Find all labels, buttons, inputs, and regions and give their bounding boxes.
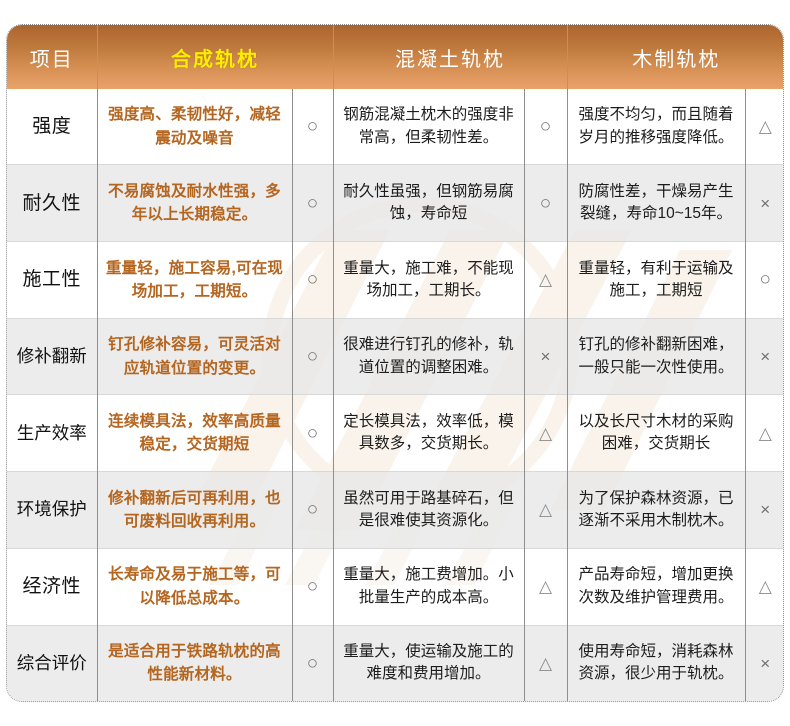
circle-icon: ○ (540, 117, 551, 136)
header-concrete-label: 混凝土轨枕 (395, 43, 505, 72)
cell-concrete: 很难进行钉孔的修补，轨道位置的调整困难。 (333, 318, 524, 395)
table-row: 修补翻新 钉孔修补容易，可灵活对应轨道位置的变更。 ○ 很难进行钉孔的修补，轨道… (7, 318, 784, 395)
table-row: 综合评价 是适合用于铁路轨枕的高性能新材料。 ○ 重量大，使运输及施工的难度和费… (7, 625, 784, 701)
circle-icon: ○ (760, 270, 771, 289)
table-header-row: 项目 合成轨枕 混凝土轨枕 木制轨枕 (7, 25, 784, 89)
cell-concrete: 虽然可用于路基碎石，但是很难使其资源化。 (333, 472, 524, 549)
cell-synthetic: 连续模具法，效率高质量稳定，交货期短 (97, 395, 292, 472)
mark-synthetic: ○ (292, 548, 333, 625)
table-row: 环境保护 修补翻新后可再利用，也可废料回收再利用。 ○ 虽然可用于路基碎石，但是… (7, 472, 784, 549)
circle-icon: ○ (307, 194, 318, 213)
cell-wood: 为了保护森林资源，已逐渐不采用木制枕木。 (567, 472, 745, 549)
cell-concrete: 钢筋混凝土枕木的强度非常高，但柔韧性差。 (333, 89, 524, 165)
cell-synthetic: 是适合用于铁路轨枕的高性能新材料。 (97, 625, 292, 701)
cross-icon: × (760, 195, 770, 212)
row-item-label: 施工性 (7, 242, 97, 319)
row-item-label: 环境保护 (7, 472, 97, 549)
mark-wood: × (745, 318, 784, 395)
comparison-table: 项目 合成轨枕 混凝土轨枕 木制轨枕 强度 强度高、柔韧性好，减轻震动及噪音 ○… (6, 24, 784, 702)
mark-synthetic: ○ (292, 318, 333, 395)
cross-icon: × (760, 348, 770, 365)
triangle-icon: △ (759, 578, 772, 595)
cell-wood: 防腐性差，干燥易产生裂缝，寿命10~15年。 (567, 165, 745, 242)
mark-concrete: ○ (524, 165, 567, 242)
cell-concrete: 定长模具法，效率低，模具数多，交货期长。 (333, 395, 524, 472)
mark-concrete: △ (524, 242, 567, 319)
cell-wood: 钉孔的修补翻新困难，一般只能一次性使用。 (567, 318, 745, 395)
mark-concrete: △ (524, 395, 567, 472)
cross-icon: × (541, 348, 551, 365)
mark-concrete: × (524, 318, 567, 395)
comparison-table-page: 项目 合成轨枕 混凝土轨枕 木制轨枕 强度 强度高、柔韧性好，减轻震动及噪音 ○… (0, 0, 790, 726)
cell-concrete: 重量大，施工难，不能现场加工，工期长。 (333, 242, 524, 319)
cell-concrete: 重量大，施工费增加。小批量生产的成本高。 (333, 548, 524, 625)
mark-wood: △ (745, 548, 784, 625)
table-row: 耐久性 不易腐蚀及耐水性强，多年以上长期稳定。 ○ 耐久性虽强，但钢筋易腐蚀，寿… (7, 165, 784, 242)
cell-synthetic: 修补翻新后可再利用，也可废料回收再利用。 (97, 472, 292, 549)
triangle-icon: △ (539, 425, 552, 442)
mark-synthetic: ○ (292, 165, 333, 242)
table-body: 强度 强度高、柔韧性好，减轻震动及噪音 ○ 钢筋混凝土枕木的强度非常高，但柔韧性… (7, 89, 784, 701)
circle-icon: ○ (307, 270, 318, 289)
triangle-icon: △ (539, 578, 552, 595)
row-item-label: 生产效率 (7, 395, 97, 472)
cell-wood: 产品寿命短，增加更换次数及维护管理费用。 (567, 548, 745, 625)
triangle-icon: △ (539, 655, 552, 672)
mark-synthetic: ○ (292, 395, 333, 472)
header-wood-label: 木制轨枕 (632, 43, 720, 72)
cell-synthetic: 长寿命及易于施工等，可以降低总成本。 (97, 548, 292, 625)
row-item-label: 耐久性 (7, 165, 97, 242)
circle-icon: ○ (307, 347, 318, 366)
mark-wood: △ (745, 395, 784, 472)
mark-wood: × (745, 625, 784, 701)
circle-icon: ○ (307, 654, 318, 673)
triangle-icon: △ (539, 271, 552, 288)
cell-wood: 重量轻，有利于运输及施工，工期短 (567, 242, 745, 319)
row-item-label: 综合评价 (7, 625, 97, 701)
cell-synthetic: 重量轻，施工容易,可在现场加工，工期短。 (97, 242, 292, 319)
circle-icon: ○ (307, 117, 318, 136)
row-item-label: 修补翻新 (7, 318, 97, 395)
cell-synthetic: 钉孔修补容易，可灵活对应轨道位置的变更。 (97, 318, 292, 395)
mark-synthetic: ○ (292, 242, 333, 319)
circle-icon: ○ (307, 577, 318, 596)
header-synthetic-label: 合成轨枕 (171, 43, 259, 72)
mark-wood: △ (745, 89, 784, 165)
mark-wood: ○ (745, 242, 784, 319)
header-concrete: 混凝土轨枕 (333, 25, 567, 89)
header-synthetic: 合成轨枕 (97, 25, 333, 89)
mark-wood: × (745, 472, 784, 549)
cross-icon: × (760, 655, 770, 672)
mark-synthetic: ○ (292, 89, 333, 165)
mark-concrete: ○ (524, 89, 567, 165)
circle-icon: ○ (307, 424, 318, 443)
table-row: 施工性 重量轻，施工容易,可在现场加工，工期短。 ○ 重量大，施工难，不能现场加… (7, 242, 784, 319)
triangle-icon: △ (539, 501, 552, 518)
cell-wood: 强度不均匀，而且随着岁月的推移强度降低。 (567, 89, 745, 165)
row-item-label: 强度 (7, 89, 97, 165)
table-row: 生产效率 连续模具法，效率高质量稳定，交货期短 ○ 定长模具法，效率低，模具数多… (7, 395, 784, 472)
header-item: 项目 (7, 25, 97, 89)
row-item-label: 经济性 (7, 548, 97, 625)
cell-synthetic: 不易腐蚀及耐水性强，多年以上长期稳定。 (97, 165, 292, 242)
triangle-icon: △ (759, 118, 772, 135)
table-row: 经济性 长寿命及易于施工等，可以降低总成本。 ○ 重量大，施工费增加。小批量生产… (7, 548, 784, 625)
mark-concrete: △ (524, 472, 567, 549)
mark-concrete: △ (524, 548, 567, 625)
cell-wood: 使用寿命短，消耗森林资源，很少用于轨枕。 (567, 625, 745, 701)
circle-icon: ○ (307, 500, 318, 519)
triangle-icon: △ (759, 425, 772, 442)
mark-synthetic: ○ (292, 472, 333, 549)
table-row: 强度 强度高、柔韧性好，减轻震动及噪音 ○ 钢筋混凝土枕木的强度非常高，但柔韧性… (7, 89, 784, 165)
circle-icon: ○ (540, 194, 551, 213)
header-wood: 木制轨枕 (567, 25, 784, 89)
header-item-label: 项目 (30, 43, 74, 72)
mark-concrete: △ (524, 625, 567, 701)
cell-wood: 以及长尺寸木材的采购困难，交货期长 (567, 395, 745, 472)
mark-wood: × (745, 165, 784, 242)
cross-icon: × (760, 501, 770, 518)
mark-synthetic: ○ (292, 625, 333, 701)
cell-concrete: 重量大，使运输及施工的难度和费用增加。 (333, 625, 524, 701)
cell-concrete: 耐久性虽强，但钢筋易腐蚀，寿命短 (333, 165, 524, 242)
cell-synthetic: 强度高、柔韧性好，减轻震动及噪音 (97, 89, 292, 165)
